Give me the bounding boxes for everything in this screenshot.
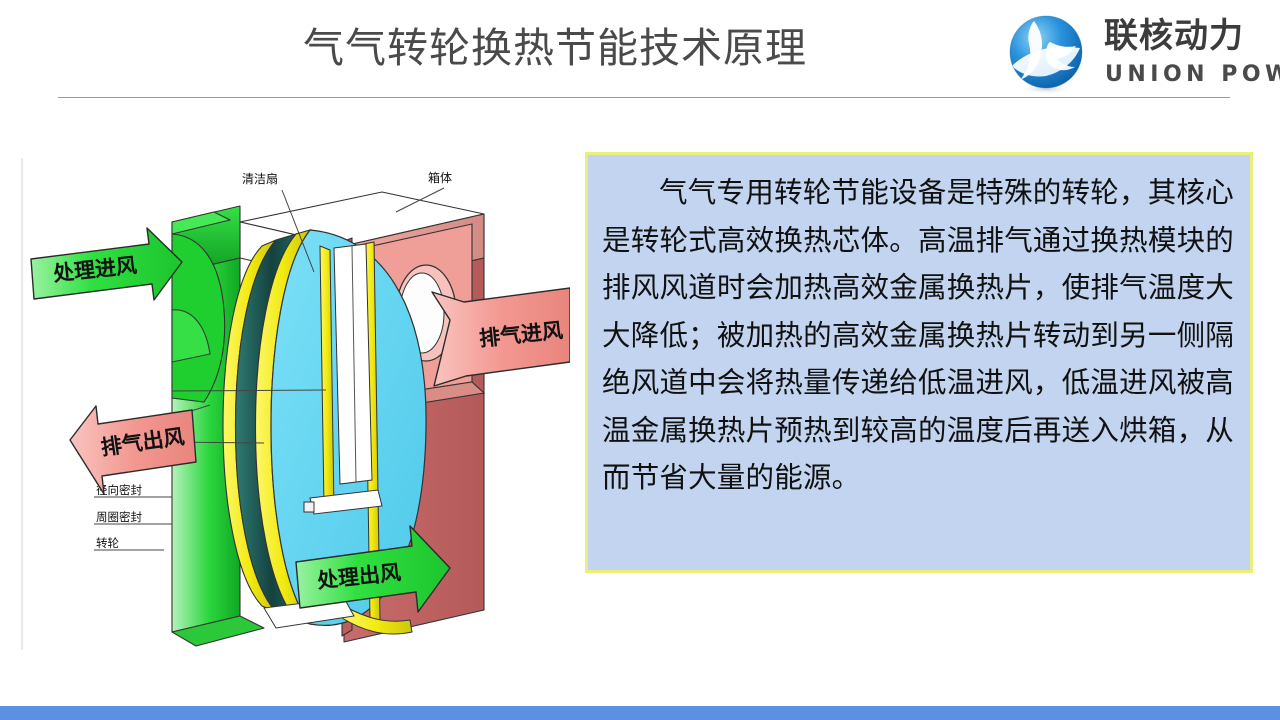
callout-label-circumferential-seal: 周圈密封	[96, 510, 142, 524]
heat-exchanger-diagram: 清洁扇 箱体 径向密封 周圈密封 转轮 处理进风 排气进风 排气出风 处理出风	[14, 150, 570, 660]
brand-name-cn: 联核动力	[1104, 16, 1244, 56]
callout-label-rotor: 转轮	[96, 536, 119, 550]
callout-label-clean-sector: 清洁扇	[242, 171, 278, 186]
callout-label-housing: 箱体	[428, 170, 452, 185]
header-divider	[58, 97, 1230, 98]
slide-header: 气气转轮换热节能技术原理	[0, 0, 1280, 100]
brand-logo: 联核动力 UNION POWER	[1004, 10, 1266, 94]
globe-icon-svg	[1004, 12, 1088, 96]
heat-exchanger-diagram-svg: 清洁扇 箱体 径向密封 周圈密封 转轮 处理进风 排气进风 排气出风 处理出风	[14, 150, 570, 660]
footer-accent-bar	[0, 706, 1280, 720]
description-paragraph: 气气专用转轮节能设备是特殊的转轮，其核心是转轮式高效换热芯体。高温排气通过换热模…	[602, 169, 1234, 502]
union-power-globe-icon	[1004, 12, 1088, 96]
description-text-box: 气气专用转轮节能设备是特殊的转轮，其核心是转轮式高效换热芯体。高温排气通过换热模…	[585, 152, 1253, 573]
flow-arrow-process-inlet: 处理进风	[31, 228, 182, 300]
support-beam-end	[304, 502, 314, 512]
flow-arrow-exhaust-inlet: 排气进风	[432, 288, 570, 386]
page-title: 气气转轮换热节能技术原理	[150, 18, 960, 78]
brand-name-en: UNION POWER	[1105, 62, 1280, 88]
